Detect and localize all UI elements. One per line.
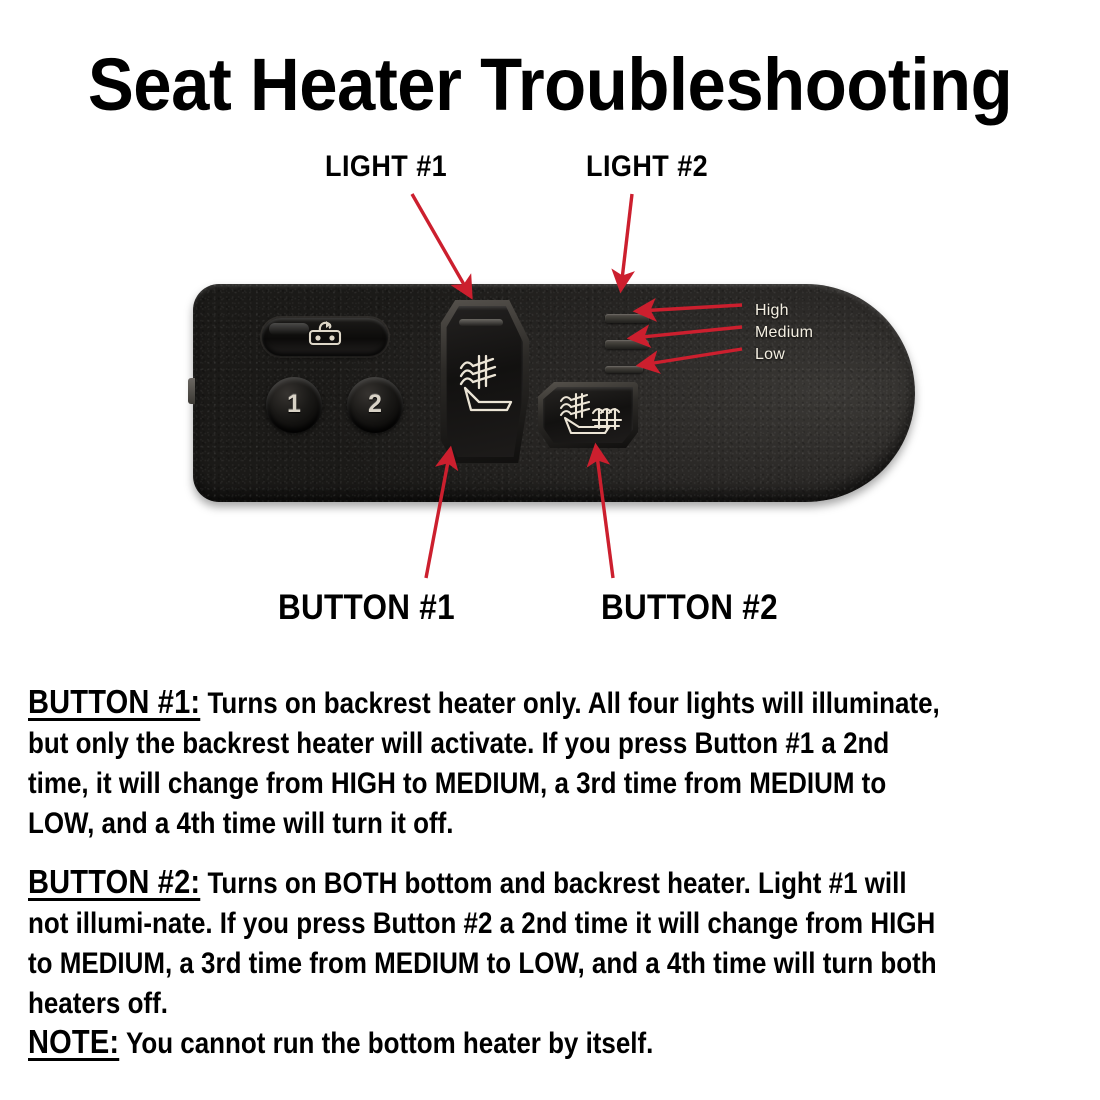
memory-set-switch[interactable] — [262, 318, 388, 356]
indicator-light-high — [605, 314, 649, 323]
memory-preset-button-1[interactable]: 1 — [266, 377, 322, 433]
level-label-low: Low — [755, 346, 785, 364]
memory-preset-1-label: 1 — [287, 390, 301, 419]
arrow-light-1 — [412, 194, 470, 295]
callout-label-button-2: BUTTON #2 — [601, 588, 778, 628]
seat-memory-icon — [262, 318, 388, 356]
paragraph-2-lead: BUTTON #2: — [28, 863, 200, 900]
level-label-high: High — [755, 302, 789, 320]
callout-label-light-2: LIGHT #2 — [586, 150, 708, 184]
memory-preset-button-2[interactable]: 2 — [347, 377, 403, 433]
arrow-light-2 — [621, 194, 632, 288]
level-label-medium: Medium — [755, 324, 813, 342]
paragraph-3-text: You cannot run the bottom heater by itse… — [119, 1027, 653, 1060]
backrest-heater-icon — [445, 306, 523, 457]
seat-control-module: 1 2 — [193, 284, 915, 502]
module-side-tab — [188, 378, 195, 404]
callout-label-light-1: LIGHT #1 — [325, 150, 447, 184]
indicator-light-low — [605, 366, 643, 373]
paragraph-button-2: BUTTON #2: Turns on BOTH bottom and back… — [28, 862, 952, 1024]
paragraph-note: NOTE: You cannot run the bottom heater b… — [28, 1022, 952, 1064]
button-2-both-heaters[interactable] — [543, 387, 633, 443]
memory-preset-2-label: 2 — [368, 390, 382, 419]
paragraph-button-1: BUTTON #1: Turns on backrest heater only… — [28, 682, 952, 844]
both-heaters-icon — [543, 387, 633, 443]
paragraph-1-lead: BUTTON #1: — [28, 683, 200, 720]
indicator-light-medium — [605, 340, 649, 349]
page-title: Seat Heater Troubleshooting — [39, 46, 1062, 124]
callout-label-button-1: BUTTON #1 — [278, 588, 455, 628]
button-1-backrest-heater[interactable] — [445, 306, 523, 457]
paragraph-3-lead: NOTE: — [28, 1023, 119, 1060]
